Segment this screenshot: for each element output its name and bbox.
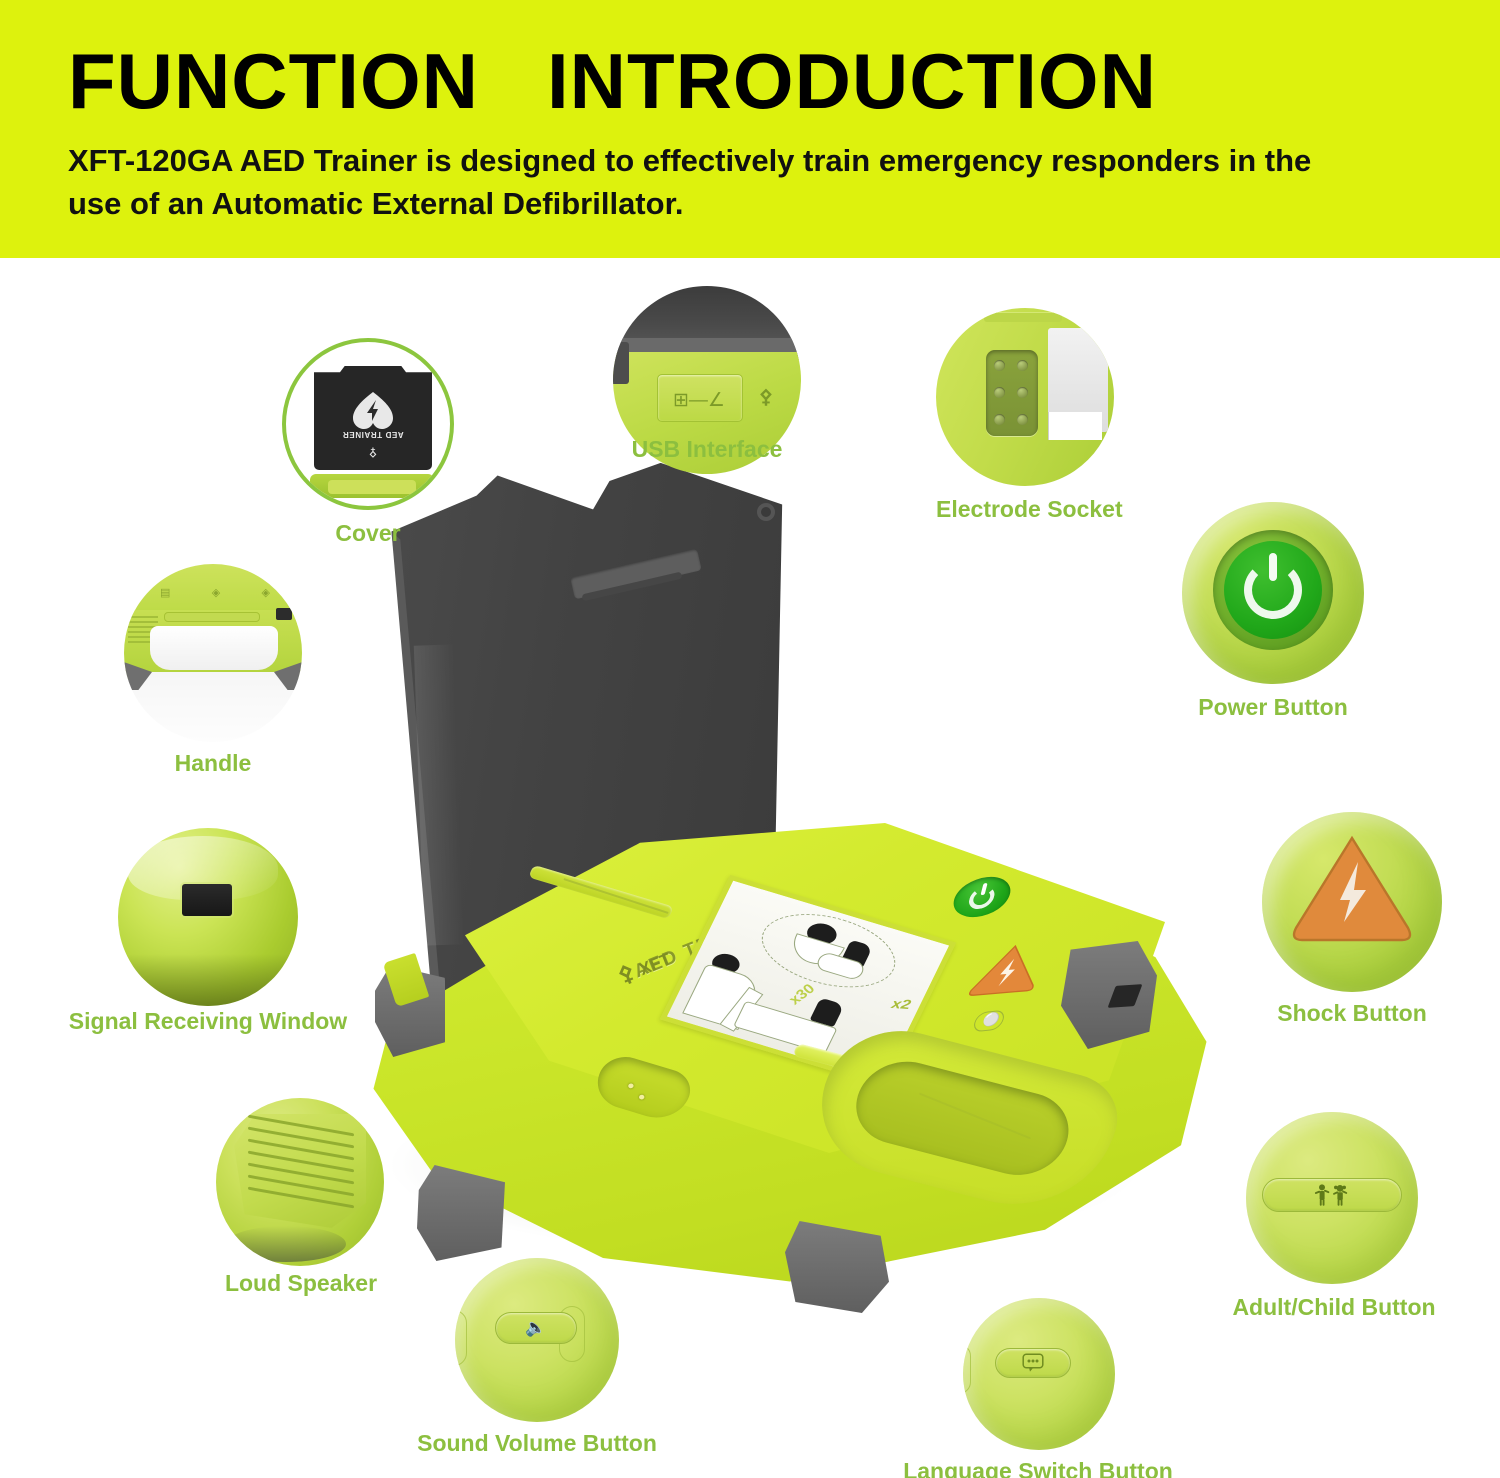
socket-pin — [994, 387, 1005, 398]
socket-pin — [1017, 414, 1028, 425]
callout-electrode-bubble — [936, 308, 1114, 486]
ir-window-icon — [182, 884, 232, 916]
callout-cover-bubble: AED TRAINER ⚴ — [282, 338, 454, 510]
callout-handle-bubble: ▤ ◈ ◈ — [124, 564, 302, 742]
electrode-socket-icon[interactable] — [986, 350, 1038, 436]
shock-lightning-icon[interactable] — [1290, 834, 1414, 946]
volume-icon: ◈ — [212, 586, 220, 599]
infographic-page: FUNCTION INTRODUCTION XFT-120GA AED Trai… — [0, 0, 1500, 1478]
callout-label-sound: Sound Volume Button — [387, 1430, 687, 1457]
device-handle-hole — [843, 1052, 1082, 1185]
callout-language-bubble — [963, 1298, 1115, 1450]
adult-child-icon — [1310, 1183, 1354, 1207]
callout-label-power: Power Button — [1182, 694, 1364, 721]
electrode-top-lip — [984, 312, 1062, 322]
speaker-shadow — [226, 1226, 346, 1262]
handle-device-lower — [124, 672, 302, 742]
device-shock-button[interactable] — [975, 943, 1041, 995]
device-corner-bumper-bottom-left — [417, 1165, 505, 1261]
usb-hinge-tab — [613, 342, 629, 384]
handle-icon[interactable] — [150, 626, 278, 670]
callout-speaker-bubble — [216, 1098, 384, 1266]
cpr-compression-count: x30 — [786, 981, 819, 1008]
electrode-white-panel-lower — [1048, 412, 1102, 440]
callout-label-usb: USB Interface — [613, 436, 801, 463]
aed-trainer-device: AED TRAINER ⚴ XFT x2 x30 — [355, 465, 1225, 1325]
xft-logo-cover: ⚴ — [369, 446, 378, 460]
adjacent-button-arc — [455, 1310, 467, 1366]
callout-label-adultchild: Adult/Child Button — [1204, 1294, 1464, 1321]
socket-pin — [1017, 387, 1028, 398]
callout-signal-bubble — [118, 828, 298, 1006]
signal-shadow-edge — [118, 954, 298, 1006]
device-lid-pivot-hole — [757, 503, 775, 521]
callout-label-language: Language Switch Button — [883, 1458, 1193, 1478]
header-band: FUNCTION INTRODUCTION XFT-120GA AED Trai… — [0, 0, 1500, 258]
callout-label-handle: Handle — [124, 750, 302, 777]
callout-label-signal: Signal Receiving Window — [48, 1008, 368, 1035]
callout-label-shock: Shock Button — [1262, 1000, 1442, 1027]
electrode-pin — [627, 1083, 634, 1089]
socket-pin — [994, 414, 1005, 425]
volume-icon: 🔈 — [525, 1318, 546, 1338]
callout-shock-bubble — [1262, 812, 1442, 992]
language-switch-button[interactable] — [995, 1348, 1071, 1378]
socket-pin — [994, 360, 1005, 371]
adult-child-button[interactable] — [1262, 1178, 1402, 1212]
language-icon: ◈ — [262, 586, 270, 599]
handle-slot-bar — [164, 612, 260, 622]
ir-window-icon — [276, 608, 292, 620]
sound-volume-button[interactable]: 🔈 — [495, 1312, 577, 1344]
heart-logo-icon — [351, 390, 395, 430]
callout-label-electrode: Electrode Socket — [936, 496, 1114, 523]
callout-sound-bubble: 🔈 — [455, 1258, 619, 1422]
adjacent-button-arc — [963, 1344, 971, 1394]
speech-bubble-icon — [1022, 1353, 1044, 1373]
aed-cover-base — [310, 474, 434, 498]
device-corner-bumper-bottom-right — [785, 1221, 889, 1313]
socket-pin — [1017, 360, 1028, 371]
cpr-breath-count: x2 — [889, 997, 915, 1013]
callout-adultchild-bubble — [1246, 1112, 1418, 1284]
usb-icon: ⊞—∠ — [673, 389, 725, 412]
aed-cover-text: AED TRAINER — [314, 430, 432, 439]
aed-cover-base-inset — [328, 480, 416, 494]
aed-cover-icon: AED TRAINER ⚴ — [314, 366, 432, 470]
power-icon-stem — [1269, 553, 1277, 581]
xft-logo-usb: ⚴ — [759, 386, 773, 409]
electrode-pin — [638, 1094, 645, 1100]
adult-child-icon: ▤ — [160, 586, 170, 599]
page-subtitle: XFT-120GA AED Trainer is designed to eff… — [68, 140, 1338, 226]
callout-label-cover: Cover — [282, 520, 454, 547]
power-button-inner — [1224, 541, 1322, 639]
handle-control-icons: ▤ ◈ ◈ — [160, 586, 270, 599]
callout-label-speaker: Loud Speaker — [176, 1270, 426, 1297]
page-title: FUNCTION INTRODUCTION — [68, 36, 1157, 127]
power-button-outer-ring[interactable] — [1213, 530, 1333, 650]
callout-power-bubble — [1182, 502, 1364, 684]
